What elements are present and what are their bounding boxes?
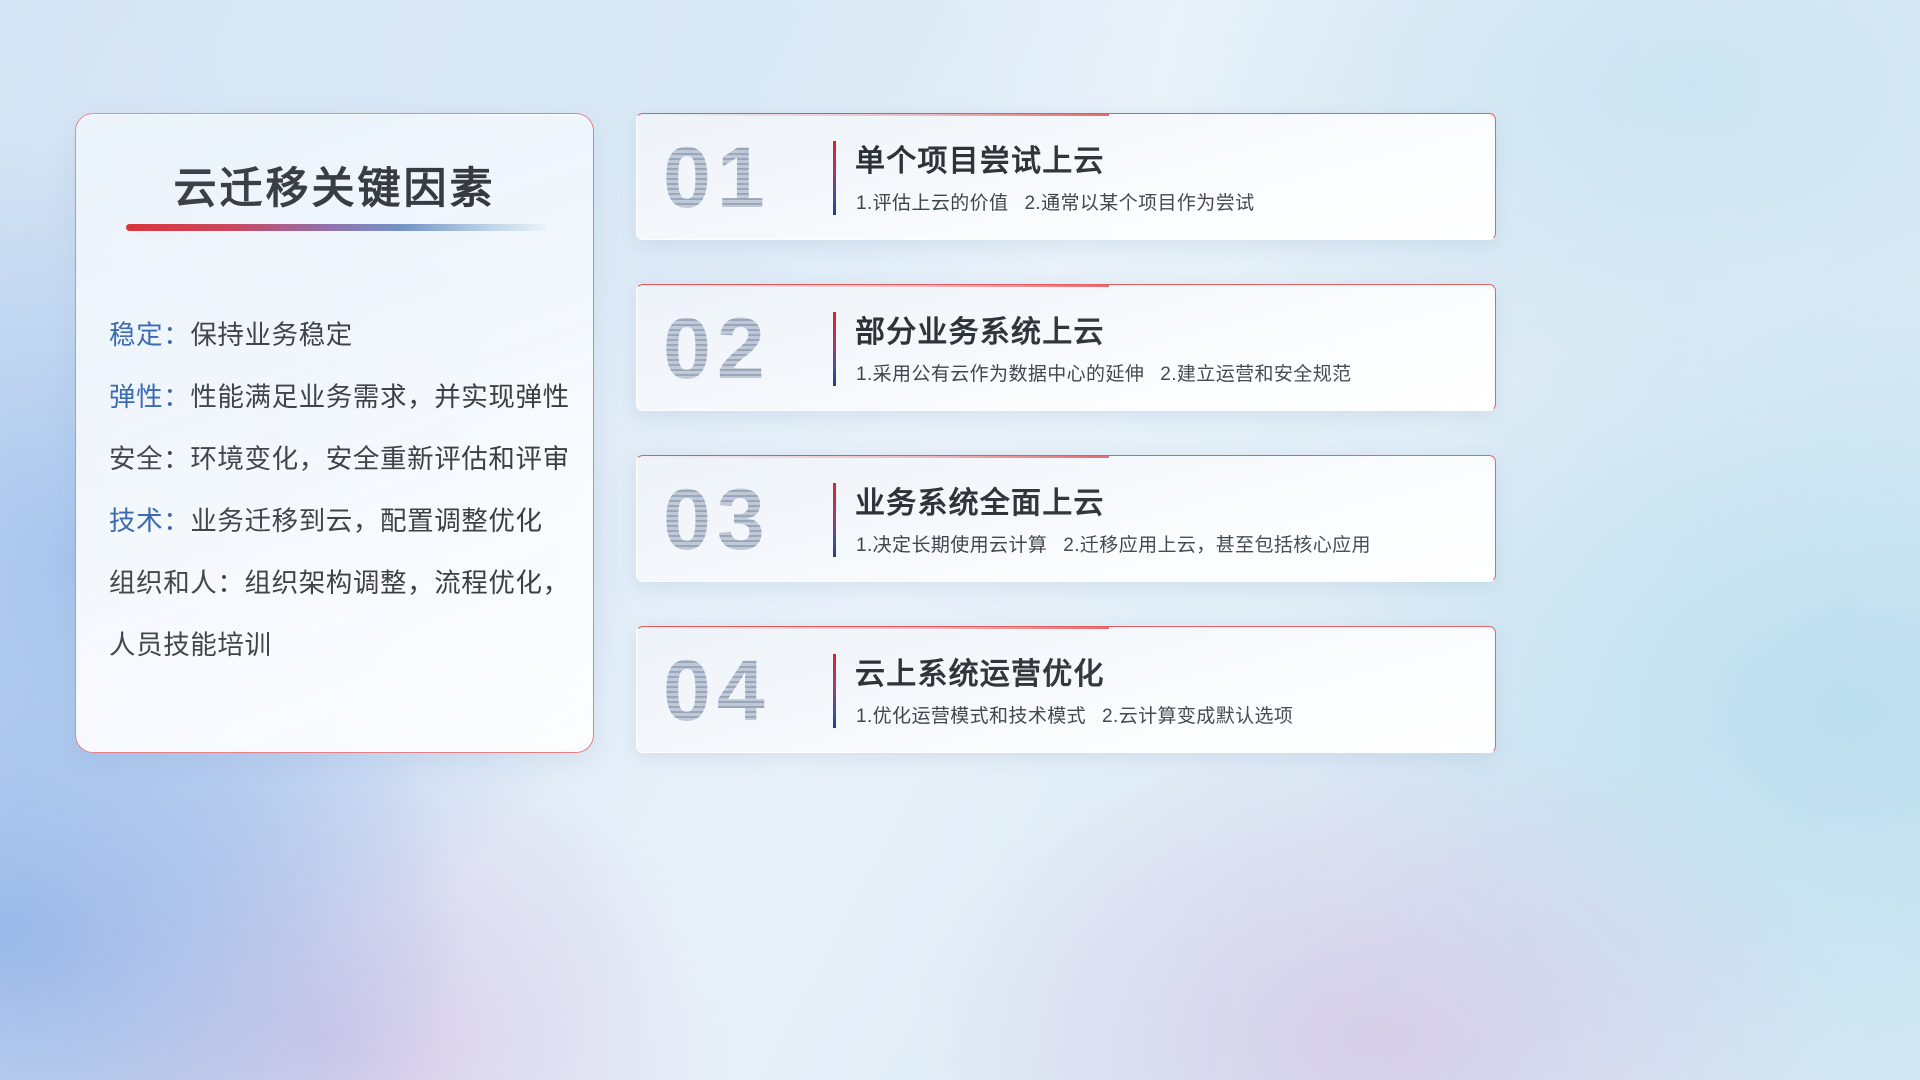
accent-bar-icon [833, 483, 836, 557]
title-underline-gradient [126, 224, 546, 231]
stage-description-part-2: 2.迁移应用上云，甚至包括核心应用 [1063, 535, 1371, 556]
factor-key: 稳定： [109, 320, 190, 350]
list-item: 稳定：保持业务稳定 [109, 304, 573, 366]
slide-canvas: 云迁移关键因素 稳定：保持业务稳定 弹性：性能满足业务需求，并实现弹性 安全：环… [0, 0, 1920, 1080]
stage-description-part-1: 1.评估上云的价值 [856, 193, 1008, 214]
stage-description-part-1: 1.决定长期使用云计算 [856, 535, 1047, 556]
stage-card[interactable]: 01 单个项目尝试上云 1.评估上云的价值2.通常以某个项目作为尝试 [636, 113, 1496, 240]
accent-bar-icon [833, 654, 836, 728]
list-item: 安全：环境变化，安全重新评估和评审 [109, 428, 573, 490]
stage-description: 1.优化运营模式和技术模式2.云计算变成默认选项 [856, 701, 1293, 728]
factor-value: 环境变化，安全重新评估和评审 [190, 444, 569, 474]
stage-title: 业务系统全面上云 [855, 478, 1105, 522]
list-item: 组织和人：组织架构调整，流程优化， [109, 552, 573, 614]
migration-stage-cards: 01 单个项目尝试上云 1.评估上云的价值2.通常以某个项目作为尝试 02 部分… [636, 113, 1496, 797]
factor-key: 弹性： [109, 382, 190, 412]
stage-description: 1.决定长期使用云计算2.迁移应用上云，甚至包括核心应用 [856, 530, 1371, 557]
list-item: 技术：业务迁移到云，配置调整优化 [109, 490, 573, 552]
factor-key: 技术： [109, 506, 190, 536]
list-item: 人员技能培训 [109, 614, 573, 676]
factor-key: 组织和人： [109, 568, 245, 598]
list-item: 弹性：性能满足业务需求，并实现弹性 [109, 366, 573, 428]
stage-number: 03 [663, 470, 853, 570]
factor-key: 安全： [109, 444, 190, 474]
stage-number: 01 [663, 128, 853, 228]
factor-value: 人员技能培训 [109, 630, 272, 660]
stage-card[interactable]: 02 部分业务系统上云 1.采用公有云作为数据中心的延伸2.建立运营和安全规范 [636, 284, 1496, 411]
factor-value: 保持业务稳定 [190, 320, 353, 350]
stage-description-part-2: 2.云计算变成默认选项 [1102, 706, 1293, 727]
stage-description-part-1: 1.采用公有云作为数据中心的延伸 [856, 364, 1144, 385]
factor-value: 性能满足业务需求，并实现弹性 [190, 382, 569, 412]
accent-bar-icon [833, 141, 836, 215]
factor-value: 业务迁移到云，配置调整优化 [190, 506, 542, 536]
stage-description-part-2: 2.建立运营和安全规范 [1160, 364, 1351, 385]
stage-card[interactable]: 04 云上系统运营优化 1.优化运营模式和技术模式2.云计算变成默认选项 [636, 626, 1496, 753]
key-factors-list: 稳定：保持业务稳定 弹性：性能满足业务需求，并实现弹性 安全：环境变化，安全重新… [109, 304, 573, 676]
stage-description-part-2: 2.通常以某个项目作为尝试 [1024, 193, 1254, 214]
page-title: 云迁移关键因素 [76, 154, 593, 216]
stage-description-part-1: 1.优化运营模式和技术模式 [856, 706, 1086, 727]
stage-description: 1.评估上云的价值2.通常以某个项目作为尝试 [856, 188, 1255, 215]
factor-value: 组织架构调整，流程优化， [245, 568, 570, 598]
accent-bar-icon [833, 312, 836, 386]
stage-card[interactable]: 03 业务系统全面上云 1.决定长期使用云计算2.迁移应用上云，甚至包括核心应用 [636, 455, 1496, 582]
stage-number: 04 [663, 641, 853, 741]
stage-description: 1.采用公有云作为数据中心的延伸2.建立运营和安全规范 [856, 359, 1352, 386]
stage-title: 云上系统运营优化 [855, 649, 1105, 693]
stage-title: 单个项目尝试上云 [855, 136, 1105, 180]
stage-title: 部分业务系统上云 [855, 307, 1105, 351]
stage-number: 02 [663, 299, 853, 399]
key-factors-panel: 云迁移关键因素 稳定：保持业务稳定 弹性：性能满足业务需求，并实现弹性 安全：环… [75, 113, 594, 753]
